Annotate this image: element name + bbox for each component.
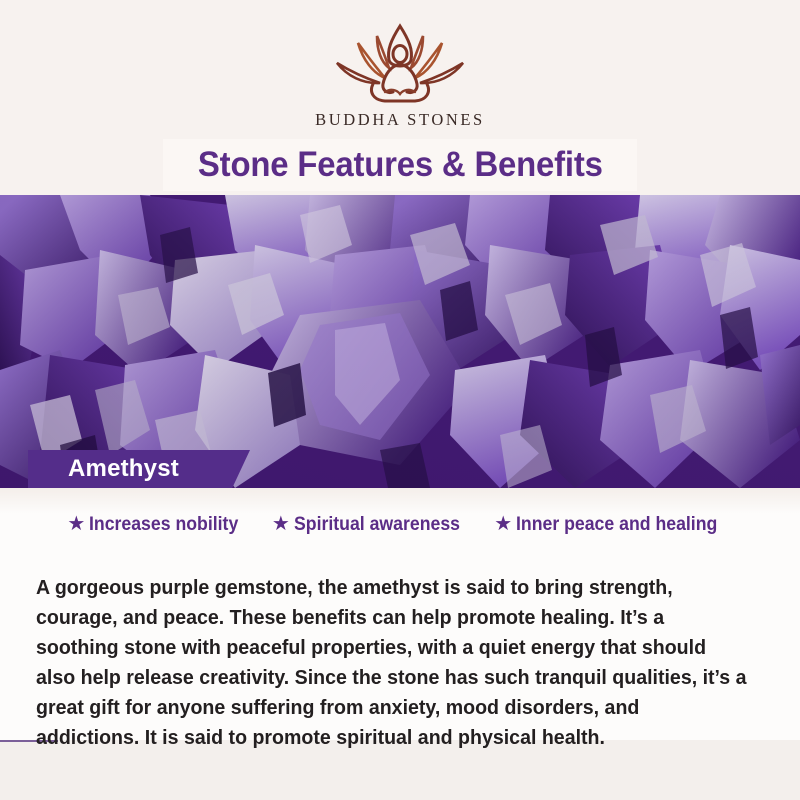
feature-list: ★ Increases nobility ★ Spiritual awarene…: [0, 514, 800, 536]
title-band: Stone Features & Benefits: [163, 139, 637, 191]
stone-name-banner: Amethyst: [28, 450, 250, 488]
star-icon: ★: [494, 514, 512, 534]
star-icon: ★: [272, 514, 290, 534]
card-body: ★ Increases nobility ★ Spiritual awarene…: [0, 488, 800, 740]
stone-info-card: BUDDHA STONES Stone Features & Benefits: [0, 0, 800, 800]
feature-label: Inner peace and healing: [516, 514, 717, 536]
lotus-meditation-icon: [325, 18, 475, 108]
feature-label: Spiritual awareness: [294, 514, 460, 536]
star-icon: ★: [67, 514, 85, 534]
feature-item-spiritual-awareness: ★ Spiritual awareness: [272, 514, 472, 536]
stone-name-label: Amethyst: [28, 455, 213, 483]
feature-item-inner-peace: ★ Inner peace and healing: [494, 514, 732, 536]
page-title: Stone Features & Benefits: [198, 145, 603, 185]
amethyst-crystal-cluster-icon: [0, 195, 800, 488]
hero-image: [0, 195, 800, 488]
card-header: BUDDHA STONES Stone Features & Benefits: [0, 0, 800, 195]
brand-logo: BUDDHA STONES: [0, 18, 800, 130]
feature-label: Increases nobility: [89, 514, 238, 536]
feature-item-nobility: ★ Increases nobility: [67, 514, 249, 536]
brand-name: BUDDHA STONES: [315, 110, 485, 130]
content-fade: [0, 488, 800, 514]
stone-description: A gorgeous purple gemstone, the amethyst…: [36, 573, 747, 753]
